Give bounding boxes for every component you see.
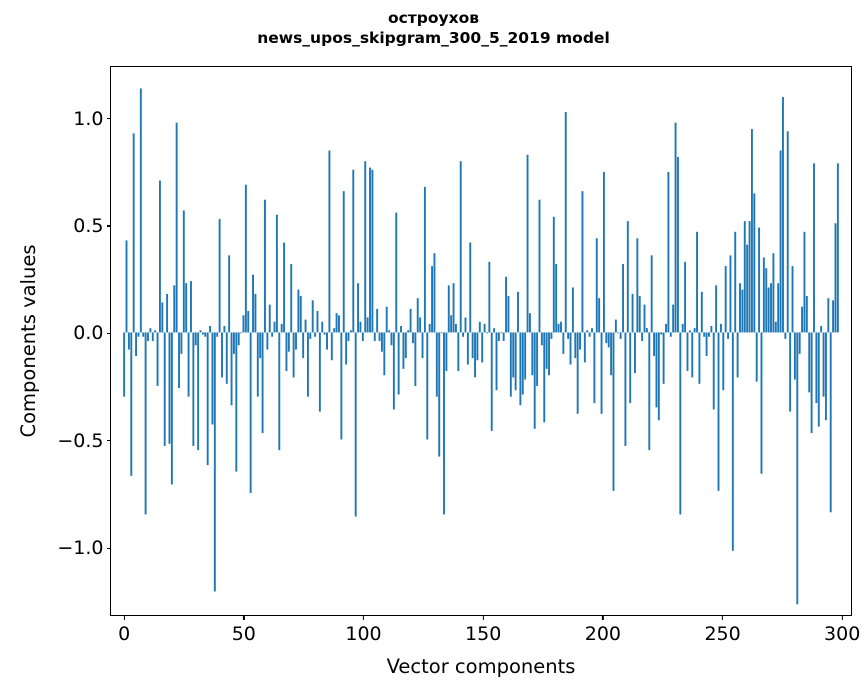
x-tick-mark: [722, 615, 723, 620]
x-tick: 150: [465, 615, 501, 645]
y-tick-mark: [107, 118, 112, 119]
matplotlib-figure: остроухов news_upos_skipgram_300_5_2019 …: [0, 0, 867, 696]
y-tick: 1.0: [73, 108, 111, 130]
x-tick-label: 100: [345, 623, 381, 645]
x-tick-label: 250: [704, 623, 740, 645]
chart-title: остроухов news_upos_skipgram_300_5_2019 …: [0, 8, 867, 48]
y-tick: −0.5: [57, 430, 111, 452]
x-tick-mark: [602, 615, 603, 620]
y-tick-mark: [107, 333, 112, 334]
y-tick-mark: [107, 225, 112, 226]
x-tick-mark: [124, 615, 125, 620]
x-tick: 250: [704, 615, 740, 645]
chart-title-line-2: news_upos_skipgram_300_5_2019 model: [0, 28, 867, 48]
x-tick-label: 0: [118, 623, 130, 645]
bar-series: [111, 67, 851, 615]
x-tick-mark: [363, 615, 364, 620]
y-tick-mark: [107, 548, 112, 549]
y-tick: 0.0: [73, 322, 111, 344]
x-tick: 100: [345, 615, 381, 645]
y-axis-label: Components values: [14, 66, 44, 616]
y-tick-label: −0.5: [57, 430, 103, 452]
y-tick: 0.5: [73, 215, 111, 237]
x-tick: 0: [118, 615, 130, 645]
x-tick-label: 50: [232, 623, 256, 645]
x-tick: 200: [585, 615, 621, 645]
x-axis-label: Vector components: [110, 655, 852, 678]
x-tick-label: 200: [585, 623, 621, 645]
plot-area: [111, 67, 851, 615]
x-tick: 50: [232, 615, 256, 645]
x-tick: 300: [824, 615, 860, 645]
x-tick-label: 150: [465, 623, 501, 645]
y-tick: −1.0: [57, 537, 111, 559]
y-tick-label: 0.5: [73, 215, 103, 237]
x-tick-mark: [483, 615, 484, 620]
x-tick-mark: [243, 615, 244, 620]
y-tick-mark: [107, 440, 112, 441]
chart-title-line-1: остроухов: [0, 8, 867, 28]
x-tick-label: 300: [824, 623, 860, 645]
y-tick-label: −1.0: [57, 537, 103, 559]
y-tick-label: 0.0: [73, 322, 103, 344]
x-tick-mark: [842, 615, 843, 620]
y-tick-label: 1.0: [73, 108, 103, 130]
plot-axes: 1.00.50.0−0.5−1.0 050100150200250300: [110, 66, 852, 616]
